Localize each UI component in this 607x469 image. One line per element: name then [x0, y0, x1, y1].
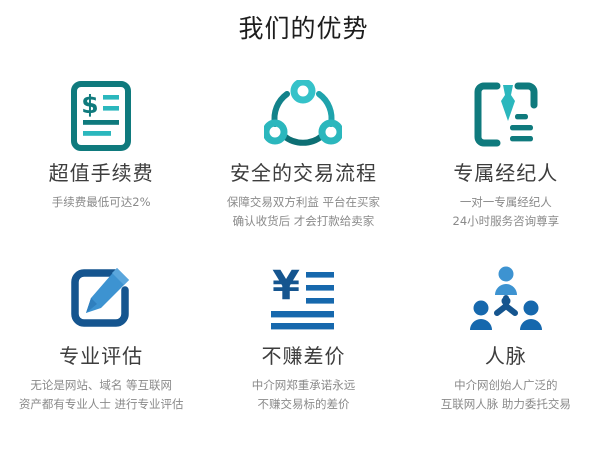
feature-card-6: 人脉 中介网创始人广泛的 互联网人脉 助力委托交易: [405, 253, 607, 414]
svg-text:¥: ¥: [273, 266, 301, 309]
desc-line: 互联网人脉 助力委托交易: [441, 395, 571, 414]
desc-line: 24小时服务咨询尊享: [453, 212, 560, 231]
features-grid: $ 超值手续费 手续费最低可达2%: [0, 70, 607, 414]
feature-title: 安全的交易流程: [230, 162, 377, 184]
feature-card-1: $ 超值手续费 手续费最低可达2%: [0, 70, 202, 231]
svg-text:$: $: [81, 90, 98, 119]
feature-description: 保障交易双方利益 平台在买家 确认收货后 才会打款给卖家: [227, 184, 380, 231]
desc-line: 一对一专属经纪人: [453, 193, 560, 212]
desc-line: 手续费最低可达2%: [52, 193, 151, 212]
feature-description: 中介网创始人广泛的 互联网人脉 助力委托交易: [441, 367, 571, 414]
desc-line: 无论是网站、域名 等互联网: [19, 376, 184, 395]
feature-card-3: 专属经纪人 一对一专属经纪人 24小时服务咨询尊享: [405, 70, 607, 231]
people-network-icon: [469, 253, 543, 345]
feature-description: 手续费最低可达2%: [52, 184, 151, 212]
feature-description: 一对一专属经纪人 24小时服务咨询尊享: [453, 184, 560, 231]
invoice-dollar-icon: $: [70, 70, 132, 162]
desc-line: 不赚交易标的差价: [252, 395, 356, 414]
row-spacer: [0, 231, 607, 253]
desc-line: 确认收货后 才会打款给卖家: [227, 212, 380, 231]
yen-price-icon: ¥: [266, 253, 340, 345]
feature-card-5: ¥ 不赚差价 中介网郑重承诺永远 不赚交易标的差价: [202, 253, 404, 414]
feature-title: 人脉: [485, 345, 527, 367]
feature-description: 中介网郑重承诺永远 不赚交易标的差价: [252, 367, 356, 414]
feature-title: 专属经纪人: [453, 162, 558, 184]
feature-description: 无论是网站、域名 等互联网 资产都有专业人士 进行专业评估: [19, 367, 184, 414]
feature-card-4: 专业评估 无论是网站、域名 等互联网 资产都有专业人士 进行专业评估: [0, 253, 202, 414]
advantages-section: 我们的优势 $ 超值手续费 手续费最低可达2%: [0, 0, 607, 469]
desc-line: 中介网创始人广泛的: [441, 376, 571, 395]
feature-title: 不赚差价: [261, 345, 345, 367]
feature-title: 超值手续费: [49, 162, 154, 184]
desc-line: 资产都有专业人士 进行专业评估: [19, 395, 184, 414]
necktie-agent-icon: [472, 70, 540, 162]
pencil-edit-icon: [67, 253, 135, 345]
desc-line: 中介网郑重承诺永远: [252, 376, 356, 395]
share-network-icon: [264, 70, 342, 162]
feature-card-2: 安全的交易流程 保障交易双方利益 平台在买家 确认收货后 才会打款给卖家: [202, 70, 404, 231]
page-title: 我们的优势: [0, 0, 607, 41]
feature-title: 专业评估: [59, 345, 143, 367]
desc-line: 保障交易双方利益 平台在买家: [227, 193, 380, 212]
